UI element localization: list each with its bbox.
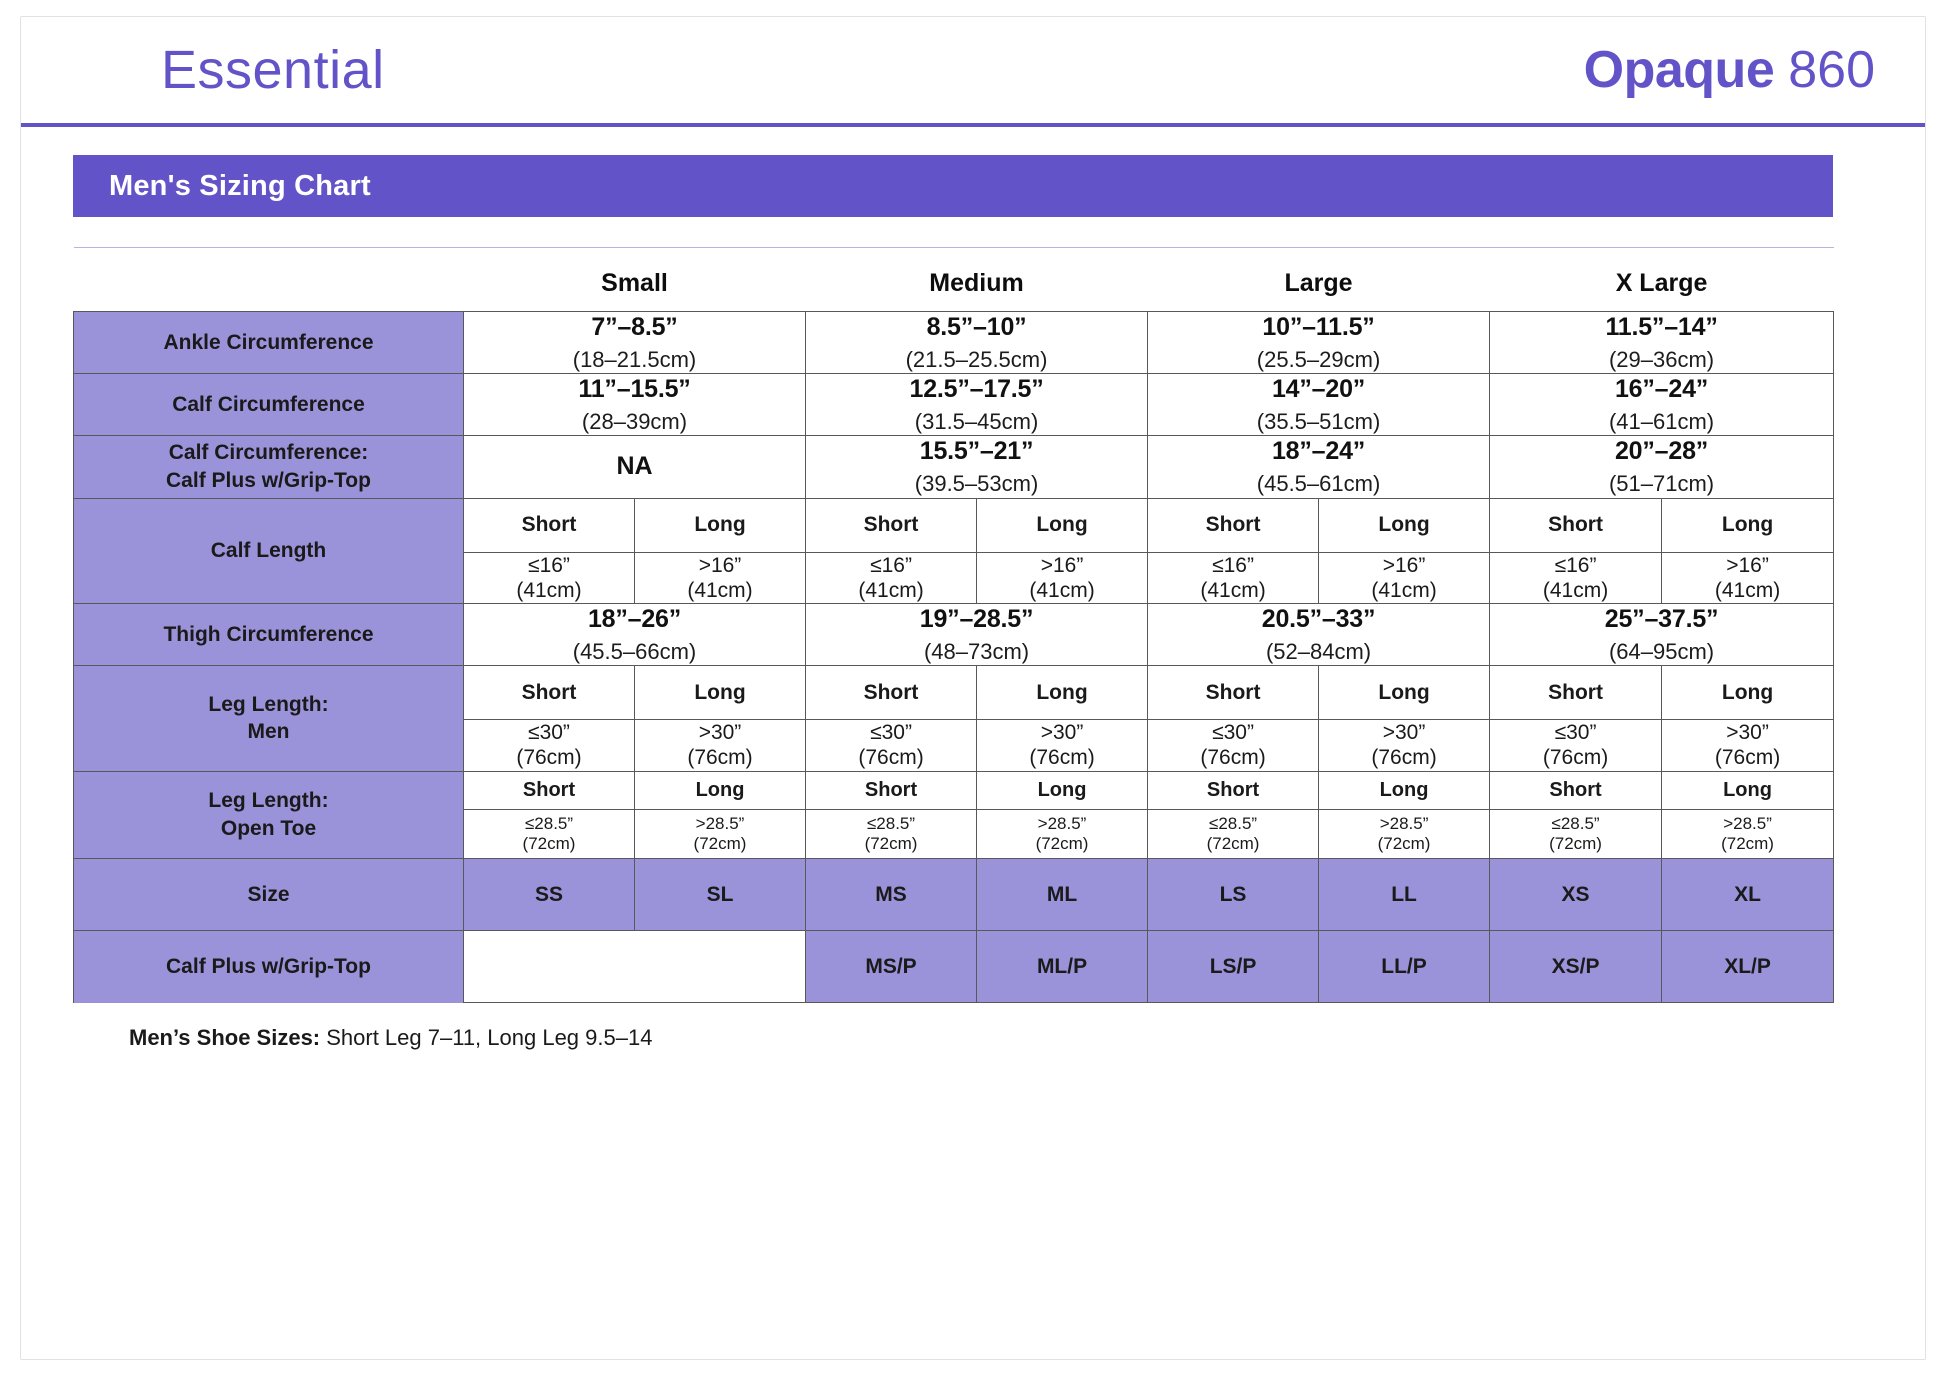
value-cm: (29–36cm) bbox=[1490, 346, 1833, 374]
cell-leg-opentoe-short: ≤28.5”(72cm) bbox=[464, 809, 635, 859]
value-inch: 20.5”–33” bbox=[1148, 604, 1489, 636]
chart-title: Men's Sizing Chart bbox=[109, 170, 371, 203]
value-cm: (52–84cm) bbox=[1148, 638, 1489, 666]
cell-leg-men-long: >30”(76cm) bbox=[1319, 720, 1490, 771]
column-header-xlarge: X Large bbox=[1490, 248, 1834, 312]
size-code-ls: LS bbox=[1148, 859, 1319, 931]
column-header-medium: Medium bbox=[806, 248, 1148, 312]
cell-calf-medium: 12.5”–17.5” (31.5–45cm) bbox=[806, 374, 1148, 436]
row-label-line2: Calf Plus w/Grip-Top bbox=[166, 469, 371, 492]
row-label-line2: Men bbox=[248, 720, 290, 743]
value-inch: >30” bbox=[977, 720, 1147, 745]
row-label-size: Size bbox=[74, 859, 464, 931]
cell-calf-length-short: ≤16”(41cm) bbox=[1148, 552, 1319, 603]
subheader-long: Long bbox=[1662, 771, 1834, 809]
cell-leg-men-short: ≤30”(76cm) bbox=[1148, 720, 1319, 771]
cell-leg-opentoe-long: >28.5”(72cm) bbox=[1662, 809, 1834, 859]
value-inch: 12.5”–17.5” bbox=[806, 374, 1147, 406]
subheader-long: Long bbox=[977, 771, 1148, 809]
table-row: Thigh Circumference 18”–26” (45.5–66cm) … bbox=[74, 604, 1834, 666]
product-name: Opaque860 bbox=[1584, 44, 1875, 96]
subheader-short: Short bbox=[1148, 666, 1319, 720]
size-code-ms: MS bbox=[806, 859, 977, 931]
subheader-long: Long bbox=[1319, 771, 1490, 809]
value-cm: (76cm) bbox=[1148, 745, 1318, 770]
value-inch: 7”–8.5” bbox=[464, 312, 805, 344]
value-inch: ≤28.5” bbox=[1150, 814, 1316, 834]
subheader-long: Long bbox=[977, 666, 1148, 720]
row-label-thigh-circumference: Thigh Circumference bbox=[74, 604, 464, 666]
subheader-short: Short bbox=[1490, 498, 1662, 552]
value-cm: (31.5–45cm) bbox=[806, 408, 1147, 436]
value-cm: (41cm) bbox=[806, 578, 976, 603]
value-inch: >28.5” bbox=[1664, 814, 1831, 834]
size-code-sl: SL bbox=[635, 859, 806, 931]
subheader-short: Short bbox=[806, 771, 977, 809]
chart-title-band: Men's Sizing Chart bbox=[73, 155, 1833, 217]
column-header-large: Large bbox=[1148, 248, 1490, 312]
subheader-long: Long bbox=[1662, 498, 1834, 552]
size-code-ss: SS bbox=[464, 859, 635, 931]
size-code-ll: LL bbox=[1319, 859, 1490, 931]
row-label-line1: Leg Length: bbox=[208, 693, 328, 716]
sizing-table: Small Medium Large X Large Ankle Circumf… bbox=[73, 247, 1834, 1003]
brand-header: Essential Opaque860 bbox=[21, 17, 1925, 127]
size-code-ml: ML bbox=[977, 859, 1148, 931]
chart-card: Essential Opaque860 Men's Sizing Chart bbox=[20, 16, 1926, 1360]
subheader-short: Short bbox=[464, 771, 635, 809]
cell-calf-length-long: >16”(41cm) bbox=[1662, 552, 1834, 603]
cell-leg-opentoe-long: >28.5”(72cm) bbox=[635, 809, 806, 859]
value-cm: (51–71cm) bbox=[1490, 470, 1833, 498]
value-inch: ≤28.5” bbox=[808, 814, 974, 834]
value-cm: (28–39cm) bbox=[464, 408, 805, 436]
value-inch: 15.5”–21” bbox=[806, 436, 1147, 468]
value-inch: >30” bbox=[1319, 720, 1489, 745]
cell-thigh-medium: 19”–28.5” (48–73cm) bbox=[806, 604, 1148, 666]
value-cm: (76cm) bbox=[1490, 745, 1661, 770]
cell-leg-men-long: >30”(76cm) bbox=[635, 720, 806, 771]
value-inch: ≤30” bbox=[806, 720, 976, 745]
cell-leg-men-short: ≤30”(76cm) bbox=[464, 720, 635, 771]
subheader-long: Long bbox=[635, 666, 806, 720]
row-label-calf-length: Calf Length bbox=[74, 498, 464, 603]
cell-calf-xlarge: 16”–24” (41–61cm) bbox=[1490, 374, 1834, 436]
cell-calf-length-long: >16”(41cm) bbox=[977, 552, 1148, 603]
cell-calfplus-medium: 15.5”–21” (39.5–53cm) bbox=[806, 436, 1148, 498]
subheader-long: Long bbox=[635, 498, 806, 552]
value-inch: >16” bbox=[635, 553, 805, 578]
value-cm: (35.5–51cm) bbox=[1148, 408, 1489, 436]
value-inch: ≤16” bbox=[1148, 553, 1318, 578]
value-inch: ≤16” bbox=[464, 553, 634, 578]
row-label-line1: Calf Circumference: bbox=[169, 441, 369, 464]
value-inch: NA bbox=[464, 451, 805, 483]
cell-calf-length-short: ≤16”(41cm) bbox=[806, 552, 977, 603]
value-inch: >28.5” bbox=[1321, 814, 1487, 834]
cell-leg-opentoe-short: ≤28.5”(72cm) bbox=[1148, 809, 1319, 859]
row-label-line1: Leg Length: bbox=[208, 789, 328, 812]
value-inch: ≤16” bbox=[1490, 553, 1661, 578]
value-inch: 25”–37.5” bbox=[1490, 604, 1833, 636]
value-inch: >30” bbox=[1662, 720, 1833, 745]
size-code-mlp: ML/P bbox=[977, 931, 1148, 1003]
value-inch: >16” bbox=[1319, 553, 1489, 578]
table-row: Ankle Circumference 7”–8.5” (18–21.5cm) … bbox=[74, 312, 1834, 374]
cell-calf-small: 11”–15.5” (28–39cm) bbox=[464, 374, 806, 436]
subheader-short: Short bbox=[1490, 666, 1662, 720]
value-cm: (72cm) bbox=[1150, 834, 1316, 854]
value-inch: >16” bbox=[1662, 553, 1833, 578]
cell-calf-length-short: ≤16”(41cm) bbox=[464, 552, 635, 603]
subheader-long: Long bbox=[1319, 666, 1490, 720]
cell-leg-men-short: ≤30”(76cm) bbox=[1490, 720, 1662, 771]
cell-calf-length-short: ≤16”(41cm) bbox=[1490, 552, 1662, 603]
value-inch: 20”–28” bbox=[1490, 436, 1833, 468]
size-code-msp: MS/P bbox=[806, 931, 977, 1003]
value-inch: 10”–11.5” bbox=[1148, 312, 1489, 344]
size-code-xl: XL bbox=[1662, 859, 1834, 931]
column-header-small: Small bbox=[464, 248, 806, 312]
cell-leg-opentoe-long: >28.5”(72cm) bbox=[977, 809, 1148, 859]
subheader-short: Short bbox=[1148, 498, 1319, 552]
footer-note-text: Short Leg 7–11, Long Leg 9.5–14 bbox=[320, 1025, 652, 1050]
value-inch: 8.5”–10” bbox=[806, 312, 1147, 344]
value-cm: (72cm) bbox=[808, 834, 974, 854]
value-cm: (76cm) bbox=[635, 745, 805, 770]
value-cm: (41cm) bbox=[1662, 578, 1833, 603]
sizing-chart-page: Essential Opaque860 Men's Sizing Chart bbox=[0, 0, 1946, 1374]
value-inch: ≤28.5” bbox=[466, 814, 632, 834]
column-header-row: Small Medium Large X Large bbox=[74, 248, 1834, 312]
value-inch: ≤30” bbox=[1148, 720, 1318, 745]
value-cm: (76cm) bbox=[977, 745, 1147, 770]
size-code-xsp: XS/P bbox=[1490, 931, 1662, 1003]
subheader-long: Long bbox=[1662, 666, 1834, 720]
value-inch: 18”–26” bbox=[464, 604, 805, 636]
brand-name: Essential bbox=[161, 43, 385, 97]
value-cm: (76cm) bbox=[806, 745, 976, 770]
table-row: Calf Circumference 11”–15.5” (28–39cm) 1… bbox=[74, 374, 1834, 436]
table-row: Leg Length: Open Toe Short Long Short Lo… bbox=[74, 771, 1834, 809]
table-row: Calf Plus w/Grip-Top MS/P ML/P LS/P LL/P… bbox=[74, 931, 1834, 1003]
subheader-short: Short bbox=[806, 666, 977, 720]
size-code-xlp: XL/P bbox=[1662, 931, 1834, 1003]
value-cm: (76cm) bbox=[1319, 745, 1489, 770]
subheader-long: Long bbox=[977, 498, 1148, 552]
value-cm: (64–95cm) bbox=[1490, 638, 1833, 666]
value-cm: (76cm) bbox=[1662, 745, 1833, 770]
row-label-leg-length-open-toe: Leg Length: Open Toe bbox=[74, 771, 464, 859]
value-inch: 14”–20” bbox=[1148, 374, 1489, 406]
value-cm: (41cm) bbox=[1490, 578, 1661, 603]
value-inch: ≤16” bbox=[806, 553, 976, 578]
value-cm: (18–21.5cm) bbox=[464, 346, 805, 374]
value-cm: (41–61cm) bbox=[1490, 408, 1833, 436]
cell-leg-opentoe-short: ≤28.5”(72cm) bbox=[806, 809, 977, 859]
value-cm: (72cm) bbox=[466, 834, 632, 854]
cell-calfplus-xlarge: 20”–28” (51–71cm) bbox=[1490, 436, 1834, 498]
value-inch: >16” bbox=[977, 553, 1147, 578]
table-row: Calf Length Short Long Short Long Short … bbox=[74, 498, 1834, 552]
cell-ankle-medium: 8.5”–10” (21.5–25.5cm) bbox=[806, 312, 1148, 374]
value-cm: (72cm) bbox=[1492, 834, 1659, 854]
value-cm: (45.5–66cm) bbox=[464, 638, 805, 666]
footer-note: Men’s Shoe Sizes: Short Leg 7–11, Long L… bbox=[129, 1025, 1925, 1051]
subheader-short: Short bbox=[464, 498, 635, 552]
subheader-short: Short bbox=[806, 498, 977, 552]
size-code-xs: XS bbox=[1490, 859, 1662, 931]
cell-leg-men-short: ≤30”(76cm) bbox=[806, 720, 977, 771]
row-label-calf-plus-grip-top-codes: Calf Plus w/Grip-Top bbox=[74, 931, 464, 1003]
cell-ankle-large: 10”–11.5” (25.5–29cm) bbox=[1148, 312, 1490, 374]
sizing-table-wrapper: Small Medium Large X Large Ankle Circumf… bbox=[73, 247, 1833, 1003]
value-cm: (41cm) bbox=[635, 578, 805, 603]
cell-leg-men-long: >30”(76cm) bbox=[977, 720, 1148, 771]
row-label-calf-plus-grip-top: Calf Circumference: Calf Plus w/Grip-Top bbox=[74, 436, 464, 498]
subheader-short: Short bbox=[464, 666, 635, 720]
value-cm: (41cm) bbox=[1148, 578, 1318, 603]
cell-calfplus-large: 18”–24” (45.5–61cm) bbox=[1148, 436, 1490, 498]
size-code-empty bbox=[464, 931, 806, 1003]
product-name-bold: Opaque bbox=[1584, 41, 1775, 99]
value-inch: 11.5”–14” bbox=[1490, 312, 1833, 344]
value-cm: (72cm) bbox=[979, 834, 1145, 854]
value-cm: (41cm) bbox=[977, 578, 1147, 603]
row-label-calf-circumference: Calf Circumference bbox=[74, 374, 464, 436]
table-row: Calf Circumference: Calf Plus w/Grip-Top… bbox=[74, 436, 1834, 498]
value-cm: (41cm) bbox=[1319, 578, 1489, 603]
cell-calf-large: 14”–20” (35.5–51cm) bbox=[1148, 374, 1490, 436]
size-code-lsp: LS/P bbox=[1148, 931, 1319, 1003]
cell-thigh-xlarge: 25”–37.5” (64–95cm) bbox=[1490, 604, 1834, 666]
size-code-llp: LL/P bbox=[1319, 931, 1490, 1003]
value-cm: (45.5–61cm) bbox=[1148, 470, 1489, 498]
cell-thigh-large: 20.5”–33” (52–84cm) bbox=[1148, 604, 1490, 666]
value-inch: ≤30” bbox=[1490, 720, 1661, 745]
cell-leg-opentoe-long: >28.5”(72cm) bbox=[1319, 809, 1490, 859]
value-inch: ≤28.5” bbox=[1492, 814, 1659, 834]
cell-leg-men-long: >30”(76cm) bbox=[1662, 720, 1834, 771]
value-inch: >30” bbox=[635, 720, 805, 745]
cell-ankle-xlarge: 11.5”–14” (29–36cm) bbox=[1490, 312, 1834, 374]
value-inch: >28.5” bbox=[637, 814, 803, 834]
subheader-short: Short bbox=[1490, 771, 1662, 809]
value-inch: 16”–24” bbox=[1490, 374, 1833, 406]
product-number: 860 bbox=[1788, 41, 1875, 99]
value-cm: (72cm) bbox=[1321, 834, 1487, 854]
cell-calfplus-small: NA bbox=[464, 436, 806, 498]
subheader-short: Short bbox=[1148, 771, 1319, 809]
cell-ankle-small: 7”–8.5” (18–21.5cm) bbox=[464, 312, 806, 374]
value-cm: (48–73cm) bbox=[806, 638, 1147, 666]
row-label-leg-length-men: Leg Length: Men bbox=[74, 666, 464, 771]
table-row: Leg Length: Men Short Long Short Long Sh… bbox=[74, 666, 1834, 720]
column-header-spacer bbox=[74, 248, 464, 312]
value-cm: (41cm) bbox=[464, 578, 634, 603]
row-label-line2: Open Toe bbox=[221, 817, 316, 840]
value-inch: 18”–24” bbox=[1148, 436, 1489, 468]
table-row: Size SS SL MS ML LS LL XS XL bbox=[74, 859, 1834, 931]
cell-calf-length-long: >16”(41cm) bbox=[1319, 552, 1490, 603]
value-inch: 19”–28.5” bbox=[806, 604, 1147, 636]
value-cm: (72cm) bbox=[637, 834, 803, 854]
value-cm: (76cm) bbox=[464, 745, 634, 770]
subheader-long: Long bbox=[635, 771, 806, 809]
value-cm: (21.5–25.5cm) bbox=[806, 346, 1147, 374]
row-label-ankle-circumference: Ankle Circumference bbox=[74, 312, 464, 374]
subheader-long: Long bbox=[1319, 498, 1490, 552]
value-cm: (72cm) bbox=[1664, 834, 1831, 854]
value-cm: (39.5–53cm) bbox=[806, 470, 1147, 498]
cell-thigh-small: 18”–26” (45.5–66cm) bbox=[464, 604, 806, 666]
value-cm: (25.5–29cm) bbox=[1148, 346, 1489, 374]
value-inch: 11”–15.5” bbox=[464, 374, 805, 406]
value-inch: ≤30” bbox=[464, 720, 634, 745]
cell-calf-length-long: >16”(41cm) bbox=[635, 552, 806, 603]
footer-note-label: Men’s Shoe Sizes: bbox=[129, 1025, 320, 1050]
cell-leg-opentoe-short: ≤28.5”(72cm) bbox=[1490, 809, 1662, 859]
value-inch: >28.5” bbox=[979, 814, 1145, 834]
